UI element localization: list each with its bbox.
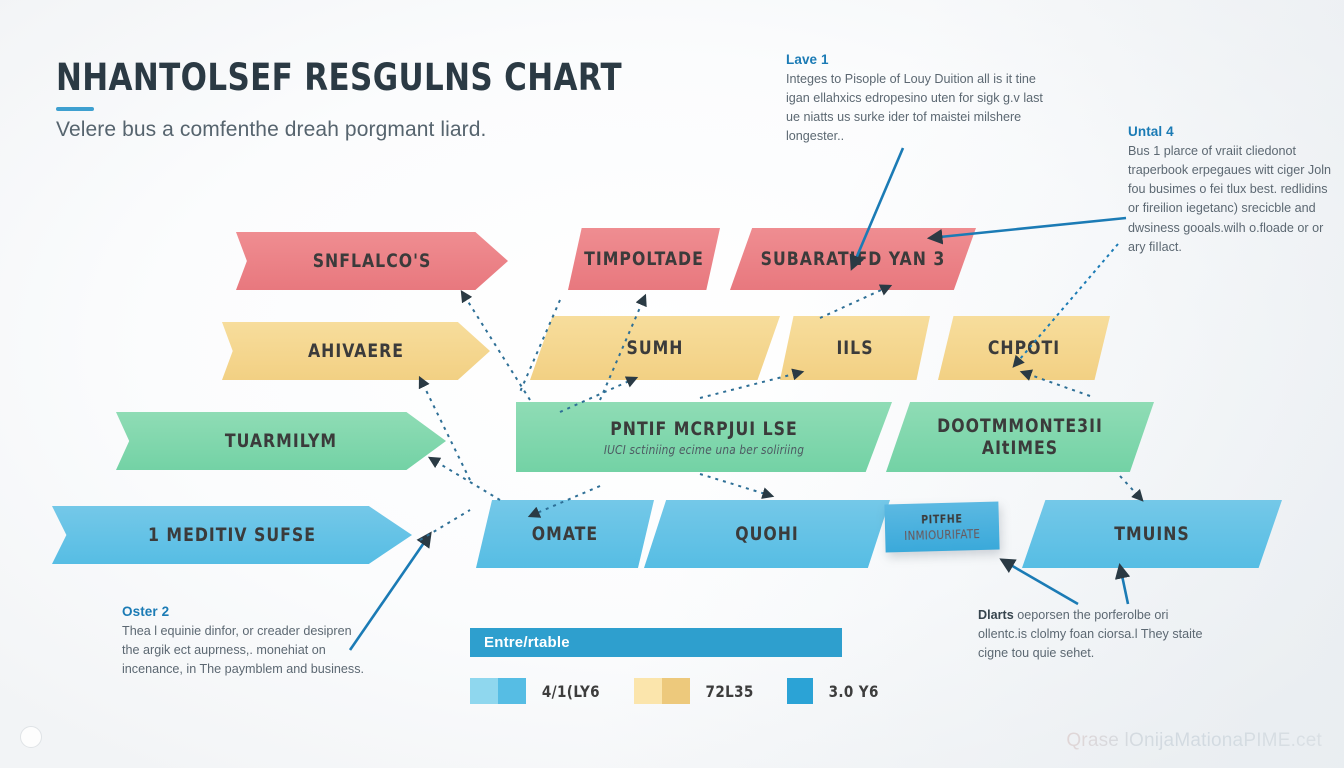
note-oster: Oster 2 Thea l equinie dinfor, or creade… (122, 604, 372, 679)
bar-snflalcos[interactable]: SNFLALCO'S (236, 232, 508, 290)
corner-dot-icon (20, 726, 42, 748)
bar-label: IILS (786, 337, 924, 359)
bar-meditiv-sufse[interactable]: 1 MEDITIV SUFSE (52, 506, 412, 564)
bar-dootmmonte3ii-aitimes[interactable]: DOOTMMONTE3II AItIMES (886, 402, 1154, 472)
note-title: Lave 1 (786, 52, 1058, 67)
legend-swatch (787, 678, 813, 704)
bar-label: OMATE (483, 523, 647, 545)
page-subtitle: Velere bus a comfenthe dreah porgmant li… (56, 118, 676, 142)
bar-sublabel: IUCI sctiniing ecime una ber soliriing (528, 442, 881, 457)
note-untal: Untal 4 Bus 1 plarce of vraiit cliedonot… (1128, 124, 1334, 257)
bar-sublabel: INMIOURIFATE (890, 526, 995, 544)
bar-label: PNTIF MCRPJUI LSE IUCI sctiniing ecime u… (531, 418, 877, 457)
bar-label: CHPOTI (945, 337, 1103, 359)
watermark: Qrase lOnijaMationaPIME.cet (1066, 730, 1322, 752)
note-body: Integes to Pisople of Louy Duition all i… (786, 70, 1058, 147)
note-body: Dlarts oeporsen the porferolbe ori ollen… (978, 606, 1213, 663)
legend-swatch (634, 678, 690, 704)
note-title: Dlarts (978, 608, 1014, 622)
legend-label: 3.0 Y6 (829, 682, 879, 701)
legend-items: 4/1(LY6 72L35 3.0 Y6 (470, 678, 842, 704)
legend-label: 4/1(LY6 (542, 682, 600, 701)
legend-title-bar: Entre/rtable (470, 628, 842, 657)
legend-swatch (470, 678, 526, 704)
bar-label: 1 MEDITIV SUFSE (66, 524, 397, 546)
bar-chpoti[interactable]: CHPOTI (938, 316, 1110, 380)
bar-omate[interactable]: OMATE (476, 500, 654, 568)
bar-label: TIMPOLTADE (574, 248, 714, 270)
bar-pitfhe-sticky[interactable]: PITFHE INMIOURIFATE (884, 502, 999, 553)
bar-quohi[interactable]: QUOHI (644, 500, 890, 568)
note-body: Bus 1 plarce of vraiit cliedonot traperb… (1128, 142, 1334, 257)
legend-item[interactable]: 72L35 (634, 678, 755, 704)
bar-label: SUMH (540, 337, 770, 359)
bar-label-main: PNTIF MCRPJUI LSE (610, 418, 798, 440)
bar-label: SNFLALCO'S (247, 250, 497, 272)
note-darts: Dlarts oeporsen the porferolbe ori ollen… (978, 606, 1213, 663)
chart-canvas: NHANTOLSEF RESGULNS CHART Velere bus a c… (0, 0, 1344, 768)
bar-timpoltade[interactable]: TIMPOLTADE (568, 228, 720, 290)
bar-label-main: PITFHE (921, 511, 963, 526)
note-title: Oster 2 (122, 604, 372, 619)
bar-tuarmilym[interactable]: TUARMILYM (116, 412, 446, 470)
bar-label: DOOTMMONTE3II AItIMES (897, 415, 1144, 459)
note-body: Thea l equinie dinfor, or creader desipr… (122, 622, 372, 679)
page-title: NHANTOLSEF RESGULNS CHART (56, 56, 633, 99)
bar-label: PITFHE INMIOURIFATE (889, 510, 995, 544)
bar-label: TUARMILYM (129, 430, 433, 452)
bar-tmuins[interactable]: TMUINS (1022, 500, 1282, 568)
bar-subaratifd[interactable]: SUBARATIFD YAN 3 (730, 228, 976, 290)
bar-pntif-mcrpjui-lse[interactable]: PNTIF MCRPJUI LSE IUCI sctiniing ecime u… (516, 402, 892, 472)
legend-item[interactable]: 3.0 Y6 (787, 678, 880, 704)
bar-label: AHIVAERE (233, 340, 480, 362)
bar-label: SUBARATIFD YAN 3 (740, 248, 966, 270)
title-underline (56, 107, 94, 111)
bar-label: QUOHI (654, 523, 880, 545)
note-lave: Lave 1 Integes to Pisople of Louy Duitio… (786, 52, 1058, 147)
legend-item[interactable]: 4/1(LY6 (470, 678, 602, 704)
legend-label: 72L35 (705, 682, 753, 701)
bar-sumh[interactable]: SUMH (530, 316, 780, 380)
bar-iils[interactable]: IILS (780, 316, 930, 380)
bar-ahivaere[interactable]: AHIVAERE (222, 322, 490, 380)
legend: Entre/rtable 4/1(LY6 72L35 3.0 Y6 (470, 628, 842, 704)
note-title: Untal 4 (1128, 124, 1334, 139)
bar-label: TMUINS (1032, 523, 1271, 545)
header: NHANTOLSEF RESGULNS CHART Velere bus a c… (56, 56, 676, 142)
